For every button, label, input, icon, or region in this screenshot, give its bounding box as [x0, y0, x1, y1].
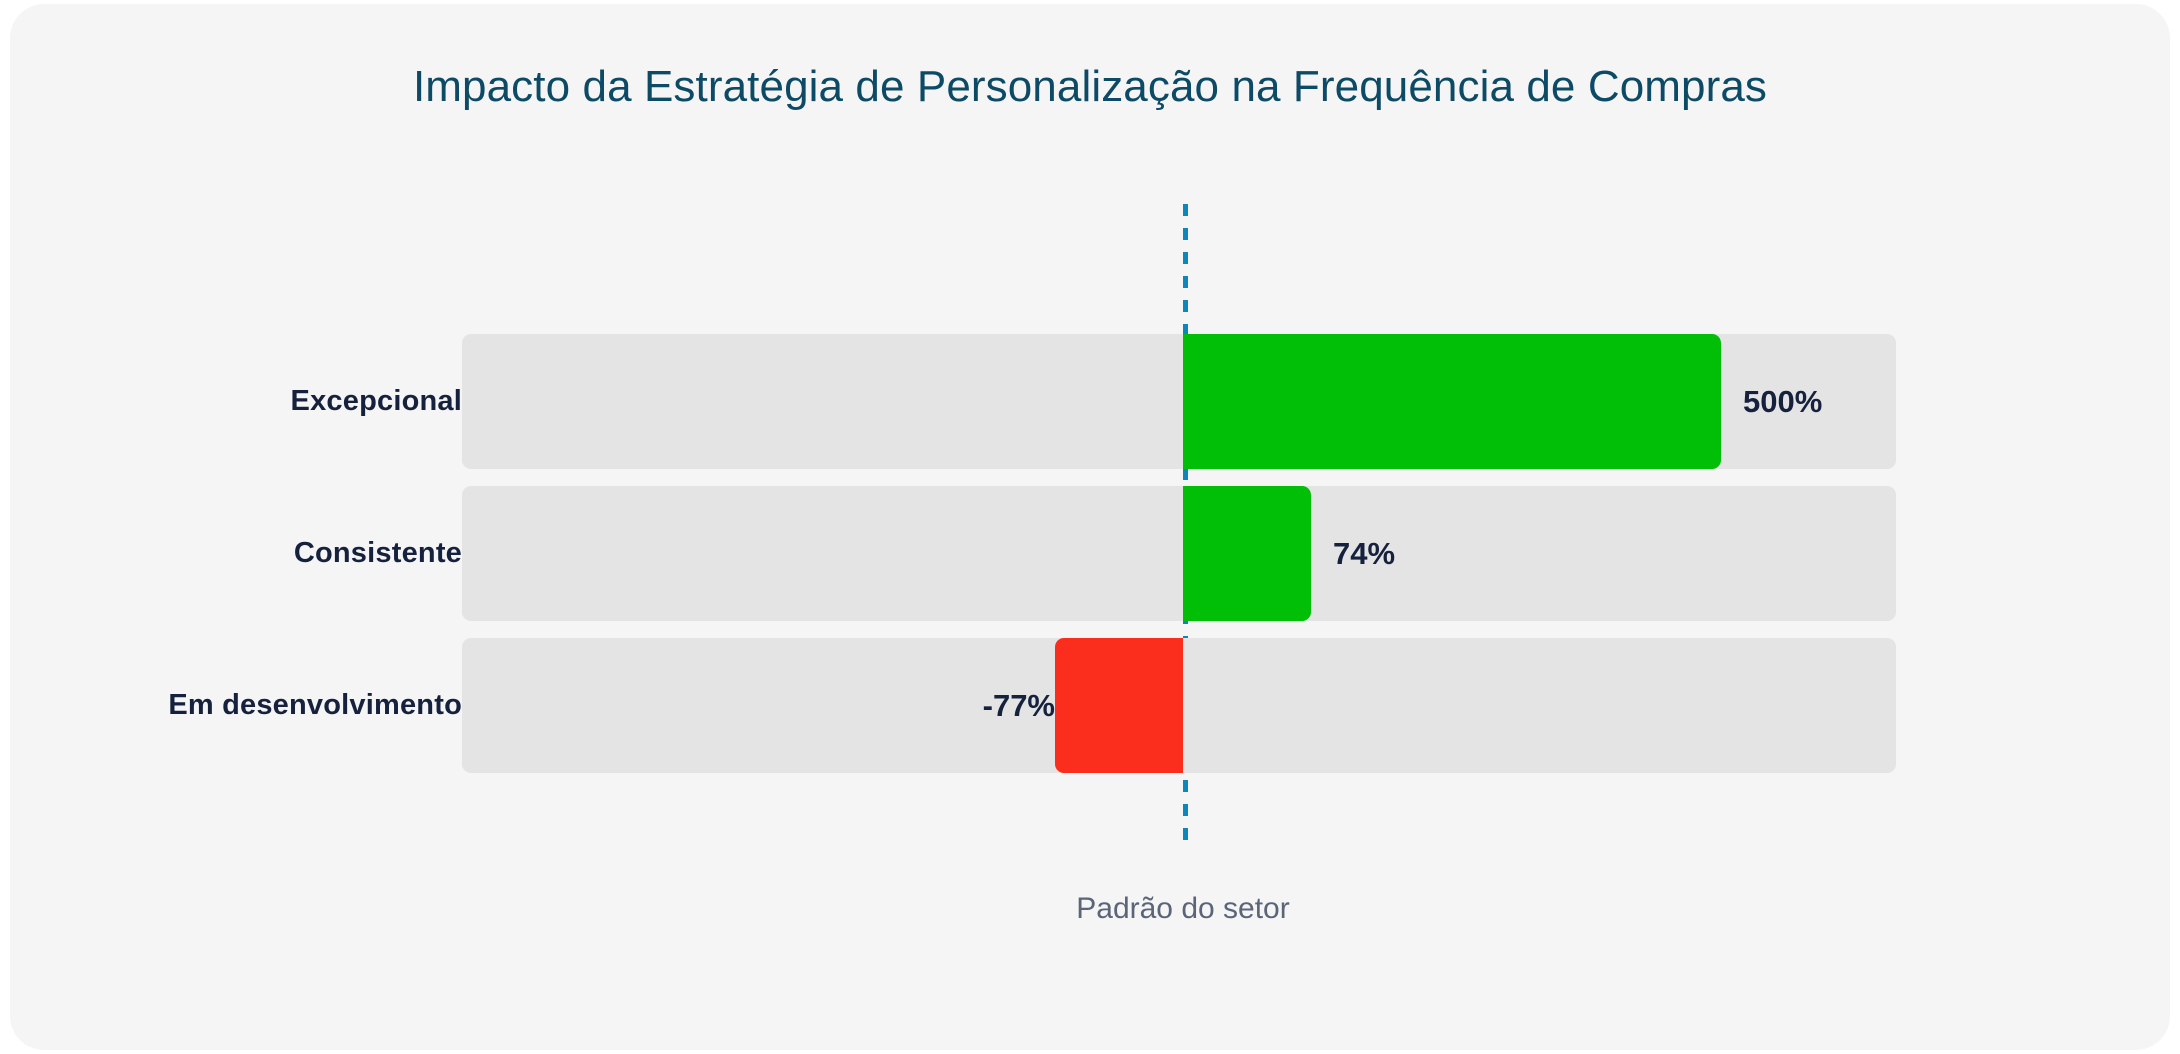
bar-consistente[interactable] [1183, 486, 1311, 621]
bar-rows: Excepcional 500% Consistente 74% Em dese… [10, 334, 2170, 790]
chart-plot-area: Excepcional 500% Consistente 74% Em dese… [10, 4, 2170, 1050]
category-label-consistente: Consistente [294, 486, 462, 621]
value-label-consistente: 74% [1311, 486, 1395, 621]
value-label-em-desenvolvimento: -77% [835, 638, 1077, 773]
baseline-caption: Padrão do setor [1076, 892, 1289, 926]
category-label-excepcional: Excepcional [291, 334, 462, 469]
value-label-excepcional: 500% [1721, 334, 1822, 469]
chart-card: Impacto da Estratégia de Personalização … [10, 4, 2170, 1050]
bar-track: -77% [462, 638, 1896, 773]
bar-track: 74% [462, 486, 1896, 621]
bar-row-em-desenvolvimento[interactable]: Em desenvolvimento -77% [10, 638, 2170, 773]
bar-track: 500% [462, 334, 1896, 469]
bar-row-excepcional[interactable]: Excepcional 500% [10, 334, 2170, 469]
category-label-em-desenvolvimento: Em desenvolvimento [168, 638, 462, 773]
bar-row-consistente[interactable]: Consistente 74% [10, 486, 2170, 621]
bar-excepcional[interactable] [1183, 334, 1721, 469]
